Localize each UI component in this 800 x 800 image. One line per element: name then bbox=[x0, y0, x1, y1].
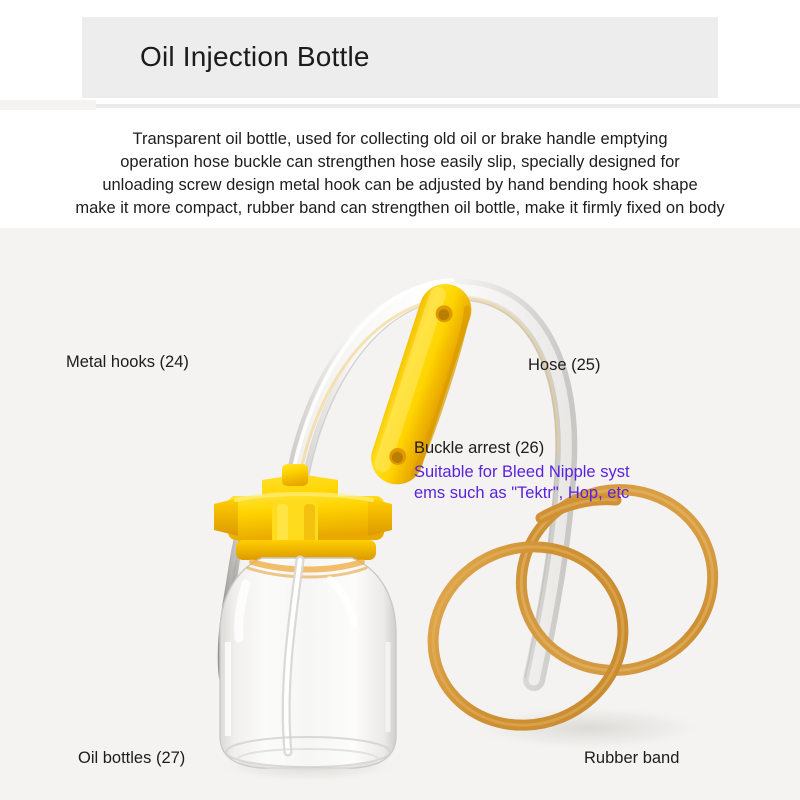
product-infographic: Oil Injection Bottle Transparent oil bot… bbox=[0, 0, 800, 800]
oil-bottle-part bbox=[220, 558, 396, 769]
label-hose: Hose (25) bbox=[528, 355, 600, 376]
label-rubber-band: Rubber band bbox=[584, 748, 679, 769]
product-photo-area: Metal hooks (24) Hose (25) Buckle arrest… bbox=[0, 228, 800, 800]
page-title: Oil Injection Bottle bbox=[140, 40, 370, 74]
label-metal-hooks: Metal hooks (24) bbox=[66, 352, 189, 373]
product-illustration bbox=[0, 228, 800, 800]
label-oil-bottles: Oil bottles (27) bbox=[78, 748, 185, 769]
label-buckle-arrest: Buckle arrest (26) bbox=[414, 438, 544, 459]
description-line-4: make it more compact, rubber band can st… bbox=[0, 197, 800, 220]
header-divider bbox=[95, 104, 800, 108]
product-description: Transparent oil bottle, used for collect… bbox=[0, 128, 800, 220]
compatibility-note: Suitable for Bleed Nipple syst ems such … bbox=[414, 462, 630, 504]
bottle-cap-part bbox=[214, 464, 392, 560]
compatibility-note-line-1: Suitable for Bleed Nipple syst bbox=[414, 462, 630, 483]
header-divider-left-cap bbox=[0, 100, 96, 110]
description-line-2: operation hose buckle can strengthen hos… bbox=[0, 151, 800, 174]
description-line-1: Transparent oil bottle, used for collect… bbox=[0, 128, 800, 151]
compatibility-note-line-2: ems such as "Tektr", Hop, etc bbox=[414, 483, 630, 504]
description-line-3: unloading screw design metal hook can be… bbox=[0, 174, 800, 197]
